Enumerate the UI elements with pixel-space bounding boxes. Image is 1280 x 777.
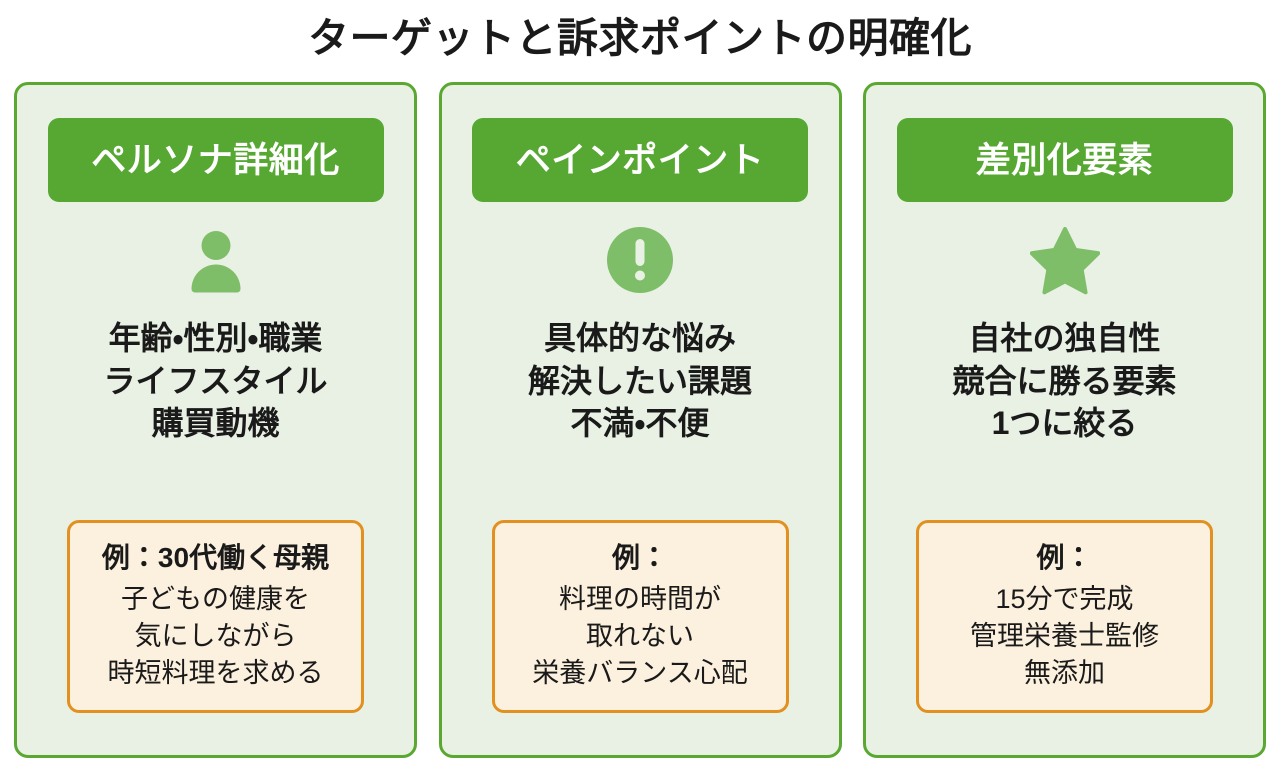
body-line: 1つに絞る [866,402,1263,445]
example-line: 栄養バランス心配 [503,655,778,692]
example-lines: 料理の時間が 取れない 栄養バランス心配 [503,581,778,692]
card-pain-point: ペインポイント 具体的な悩み 解決したい課題 不満・不便 例： 料理の時間が 取… [439,82,842,758]
body-line: 自社の独自性 [866,317,1263,360]
example-box-persona: 例：30代働く母親 子どもの健康を 気にしながら 時短料理を求める [67,520,364,713]
example-lines: 15分で完成 管理栄養士監修 無添加 [927,581,1202,692]
example-label: 例： [927,539,1202,577]
card-body-persona: 年齢・性別・職業 ライフスタイル 購買動機 [17,317,414,445]
body-line: 不満・不便 [442,402,839,445]
card-body-differentiation: 自社の独自性 競合に勝る要素 1つに絞る [866,317,1263,445]
example-label: 例： [503,539,778,577]
example-line: 管理栄養士監修 [927,618,1202,655]
card-header-differentiation: 差別化要素 [897,118,1233,202]
example-line: 取れない [503,618,778,655]
infographic-page: ターゲットと訴求ポイントの明確化 ペルソナ詳細化 年齢・性別・職業 ライフスタイ… [0,0,1280,777]
body-line: ライフスタイル [17,360,414,403]
example-line: 無添加 [927,655,1202,692]
body-line: 競合に勝る要素 [866,360,1263,403]
card-persona: ペルソナ詳細化 年齢・性別・職業 ライフスタイル 購買動機 例：30代働く母親 … [14,82,417,758]
card-differentiation: 差別化要素 自社の独自性 競合に勝る要素 1つに絞る 例： 15分で完成 管理栄… [863,82,1266,758]
example-label: 例：30代働く母親 [78,539,353,577]
body-line: 年齢・性別・職業 [17,317,414,360]
example-line: 子どもの健康を [78,581,353,618]
card-header-label: ペルソナ詳細化 [91,143,340,178]
body-line: 購買動機 [17,402,414,445]
example-line: 料理の時間が [503,581,778,618]
page-title: ターゲットと訴求ポイントの明確化 [0,14,1280,63]
example-box-differentiation: 例： 15分で完成 管理栄養士監修 無添加 [916,520,1213,713]
card-header-label: 差別化要素 [976,143,1154,178]
person-icon [181,225,251,295]
example-box-pain-point: 例： 料理の時間が 取れない 栄養バランス心配 [492,520,789,713]
example-line: 15分で完成 [927,581,1202,618]
exclamation-circle-icon [605,225,675,295]
example-line: 時短料理を求める [78,655,353,692]
body-line: 具体的な悩み [442,317,839,360]
star-icon [1030,225,1100,295]
card-body-pain-point: 具体的な悩み 解決したい課題 不満・不便 [442,317,839,445]
card-header-pain-point: ペインポイント [472,118,808,202]
card-header-label: ペインポイント [516,143,765,178]
card-header-persona: ペルソナ詳細化 [48,118,384,202]
body-line: 解決したい課題 [442,360,839,403]
example-line: 気にしながら [78,618,353,655]
card-row: ペルソナ詳細化 年齢・性別・職業 ライフスタイル 購買動機 例：30代働く母親 … [14,82,1266,758]
example-lines: 子どもの健康を 気にしながら 時短料理を求める [78,581,353,692]
